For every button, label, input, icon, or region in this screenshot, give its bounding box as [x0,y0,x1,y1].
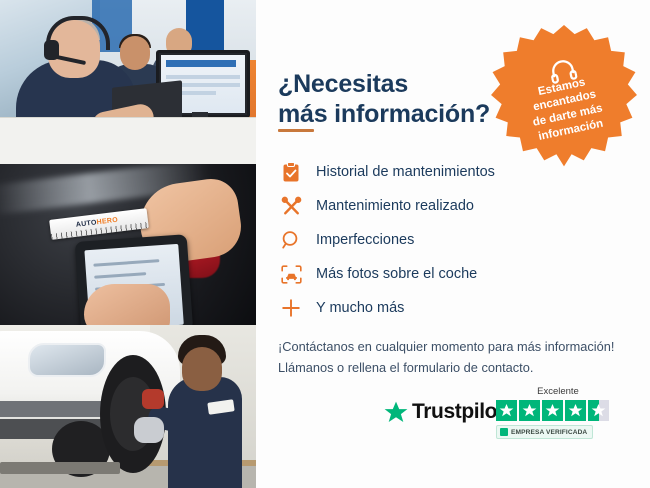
feature-item-much-more: Y mucho más [278,292,618,324]
call-center-agents-photo [0,0,256,164]
star-filled [542,400,563,421]
feature-label: Imperfecciones [316,233,414,248]
inspector-hand-lower [84,284,170,325]
clipboard-check-icon [278,159,304,185]
information-banner: AUTOHERO [0,0,650,488]
feature-label: Mantenimiento realizado [316,199,474,214]
car-lift-arm [0,462,120,474]
trustpilot-score-block: Excelente [496,386,620,441]
car-headlight [28,343,106,377]
feature-item-more-photos: Más fotos sobre el coche [278,258,618,290]
page-title: ¿Necesitas más información? [278,69,518,130]
headline-line-1: ¿Necesitas [278,70,408,98]
star-half [588,400,609,421]
headline-divider [278,129,314,132]
contact-paragraph: ¡Contáctanos en cualquier momento para m… [278,337,638,378]
feature-label: Más fotos sobre el coche [316,267,477,282]
car-scan-icon [278,261,304,287]
tablet-content-line [93,259,159,267]
second-agent-head [120,36,150,70]
feature-item-maintenance-history: Historial de mantenimientos [278,156,618,188]
tablet-content-line [94,272,146,279]
plus-icon [278,295,304,321]
feature-label: Historial de mantenimientos [316,165,495,180]
star-filled [565,400,586,421]
feature-label: Y mucho más [316,301,404,316]
feature-item-imperfections: Imperfecciones [278,224,618,256]
contact-line-1: ¡Contáctanos en cualquier momento para m… [278,339,614,354]
check-square-icon [500,428,508,436]
mechanic-glove [134,417,164,443]
photo-column: AUTOHERO [0,0,256,488]
trustpilot-stars [496,400,620,421]
content-panel: ¿Necesitas más información? Estamos enca… [256,0,650,488]
feature-item-maintenance-done: Mantenimiento realizado [278,190,618,222]
starburst-shape [491,25,637,166]
tools-wrench-screwdriver-icon [278,193,304,219]
verified-company-badge: EMPRESA VERIFICADA [496,425,593,439]
mechanic-wheel-inspection-photo [0,325,256,488]
car-inspection-ruler-tablet-photo: AUTOHERO [0,164,256,325]
trustpilot-rating-label: Excelente [496,386,620,397]
verified-company-label: EMPRESA VERIFICADA [511,429,587,436]
office-desk [0,118,256,164]
trustpilot-star-icon [384,401,408,424]
magnifier-icon [278,227,304,253]
star-filled [519,400,540,421]
mechanic-tool [142,389,164,409]
trustpilot-logo: Trustpilot [384,400,504,424]
trustpilot-wordmark: Trustpilot [412,400,504,424]
mechanic-head [182,347,222,391]
monitor-header-bar [166,60,236,67]
contact-line-2: Llámanos o rellena el formulario de cont… [278,360,533,375]
feature-list: Historial de mantenimientos Mantenimient… [278,156,618,326]
promo-starburst-badge: Estamos encantados de darte más informac… [488,22,640,174]
trustpilot-rating-widget[interactable]: Trustpilot Excelente [384,386,634,442]
star-filled [496,400,517,421]
headline-line-2: más información? [278,100,490,128]
monitor-content-row [166,75,240,79]
